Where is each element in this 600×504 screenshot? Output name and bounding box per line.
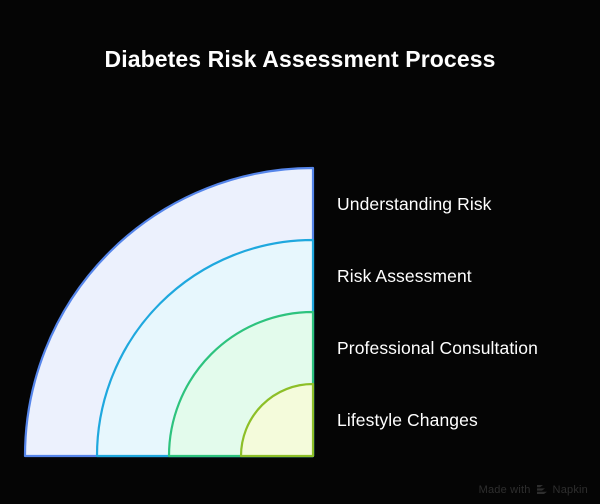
diagram-canvas: Diabetes Risk Assessment Process Underst… — [0, 0, 600, 504]
concentric-arc-diagram — [0, 0, 600, 504]
watermark-brand-label: Napkin — [553, 485, 588, 496]
arc-label-understanding-risk: Understanding Risk — [337, 196, 492, 214]
napkin-watermark[interactable]: Made with Napkin — [479, 484, 588, 496]
arc-label-risk-assessment: Risk Assessment — [337, 268, 472, 286]
watermark-made-with-label: Made with — [479, 485, 531, 496]
arc-label-lifestyle-changes: Lifestyle Changes — [337, 412, 478, 430]
napkin-logo-icon — [536, 484, 548, 496]
arc-label-professional-consultation: Professional Consultation — [337, 340, 538, 358]
